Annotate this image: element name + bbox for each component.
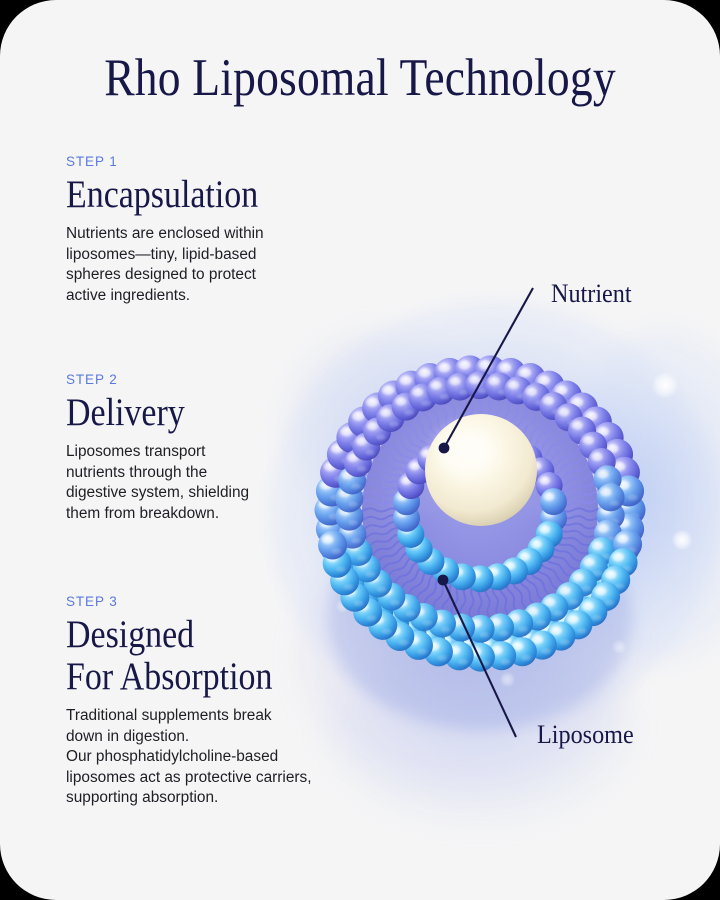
step-heading-1: Encapsulation	[66, 174, 353, 216]
bokeh-speck	[500, 672, 515, 687]
lipid-heads-inner-ring	[393, 428, 567, 593]
callout-label-liposome: Liposome	[537, 720, 634, 750]
bokeh-speck	[652, 372, 678, 398]
bokeh-speck	[672, 530, 692, 550]
step-block-3: STEP 3 Designed For Absorption Tradition…	[66, 594, 396, 809]
callout-leaders	[438, 288, 533, 737]
nutrient-core	[425, 414, 537, 526]
step-block-1: STEP 1 Encapsulation Nutrients are enclo…	[66, 154, 396, 306]
leader-line-liposome	[443, 580, 516, 737]
step-block-2: STEP 2 Delivery Liposomes transport nutr…	[66, 372, 396, 524]
leader-dot-nutrient	[439, 443, 450, 454]
step-kicker-3: STEP 3	[66, 594, 396, 609]
leader-line-nutrient	[444, 288, 533, 448]
lipid-bilayer-interior	[362, 392, 598, 628]
step-body-3: Traditional supplements break down in di…	[66, 706, 396, 808]
step-heading-3: Designed For Absorption	[66, 614, 353, 698]
page-title: Rho Liposomal Technology	[50, 50, 669, 107]
leader-dot-liposome	[438, 575, 449, 586]
step-kicker-1: STEP 1	[66, 154, 396, 169]
poster-canvas: Nutrient Liposome Rho Liposomal Technolo…	[0, 0, 720, 900]
step-body-2: Liposomes transport nutrients through th…	[66, 442, 396, 524]
step-kicker-2: STEP 2	[66, 372, 396, 387]
callout-label-nutrient: Nutrient	[551, 279, 632, 309]
step-body-1: Nutrients are enclosed within liposomes—…	[66, 224, 396, 306]
ambient-glow-right	[560, 330, 720, 660]
bokeh-speck	[612, 640, 626, 654]
step-heading-2: Delivery	[66, 392, 353, 434]
